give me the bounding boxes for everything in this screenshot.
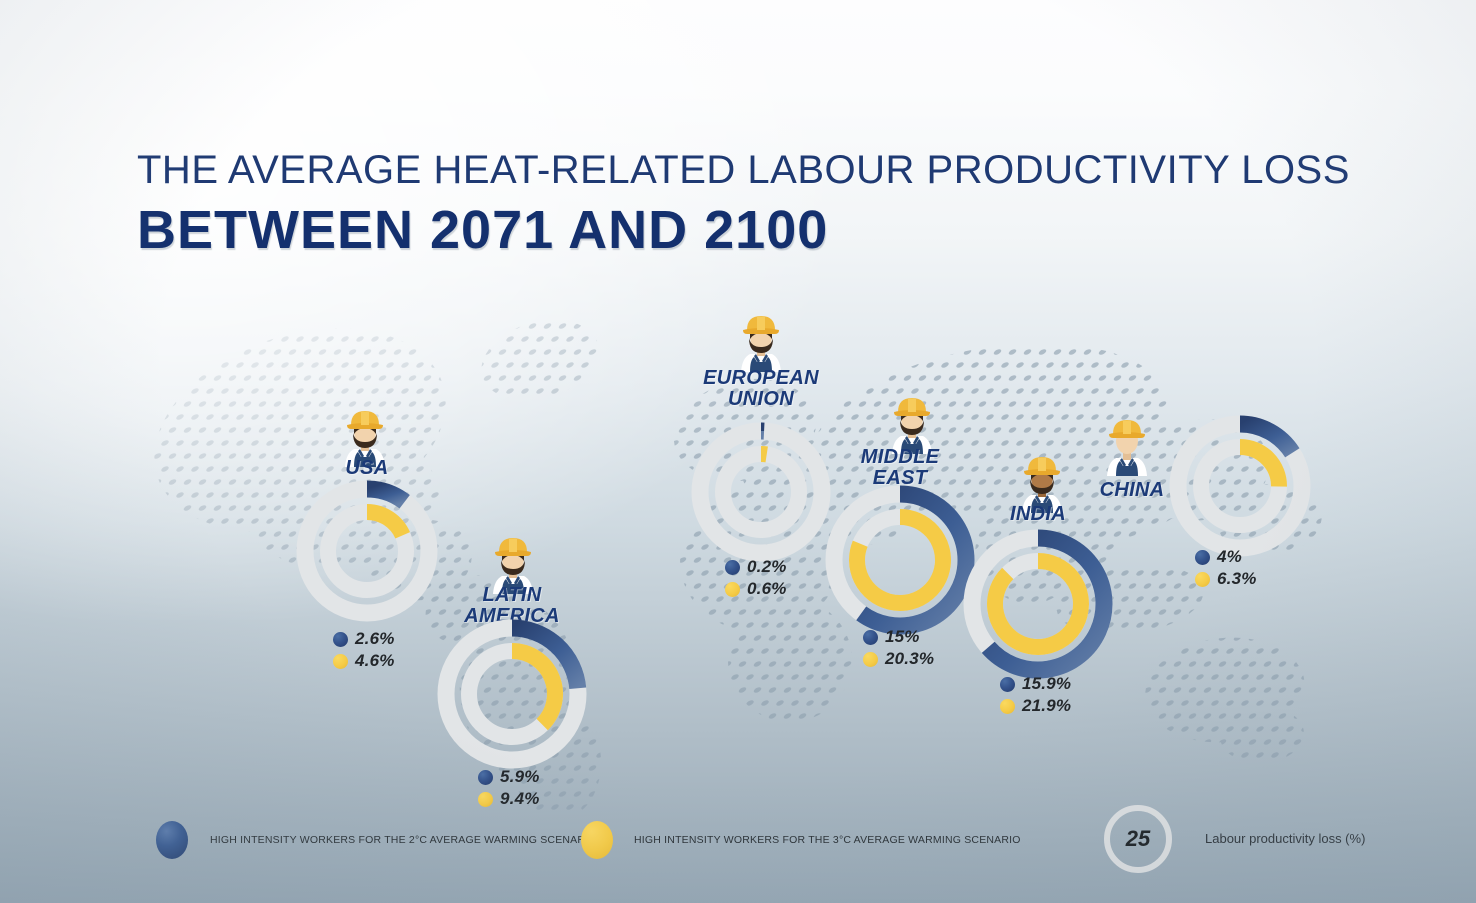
legend-swatch-2c xyxy=(156,821,188,859)
region-china: CHINA 4% 6.3% xyxy=(0,0,1476,903)
legend-swatch-3c xyxy=(581,821,613,859)
scale-caption: Labour productivity loss (%) xyxy=(1205,831,1365,846)
value-row-2c-china: 4% xyxy=(1195,546,1257,568)
worker-icon-china xyxy=(1101,414,1153,481)
value-row-3c-china: 6.3% xyxy=(1195,568,1257,590)
donut-chart-china xyxy=(1166,412,1314,565)
value-dot-2c-icon xyxy=(1195,550,1210,565)
value-dot-3c-icon xyxy=(1195,572,1210,587)
legend-label-3c: HIGH INTENSITY WORKERS FOR THE 3°C AVERA… xyxy=(634,834,1021,846)
value-text-2c: 4% xyxy=(1217,547,1242,567)
legend-label-2c: HIGH INTENSITY WORKERS FOR THE 2°C AVERA… xyxy=(210,834,597,846)
value-text-3c: 6.3% xyxy=(1217,569,1257,589)
value-labels-china: 4% 6.3% xyxy=(1195,546,1257,590)
scale-reference-ring: 25 xyxy=(1104,805,1172,873)
infographic-slide: THE AVERAGE HEAT-RELATED LABOUR PRODUCTI… xyxy=(0,0,1476,903)
scale-reference-value: 25 xyxy=(1126,826,1150,852)
